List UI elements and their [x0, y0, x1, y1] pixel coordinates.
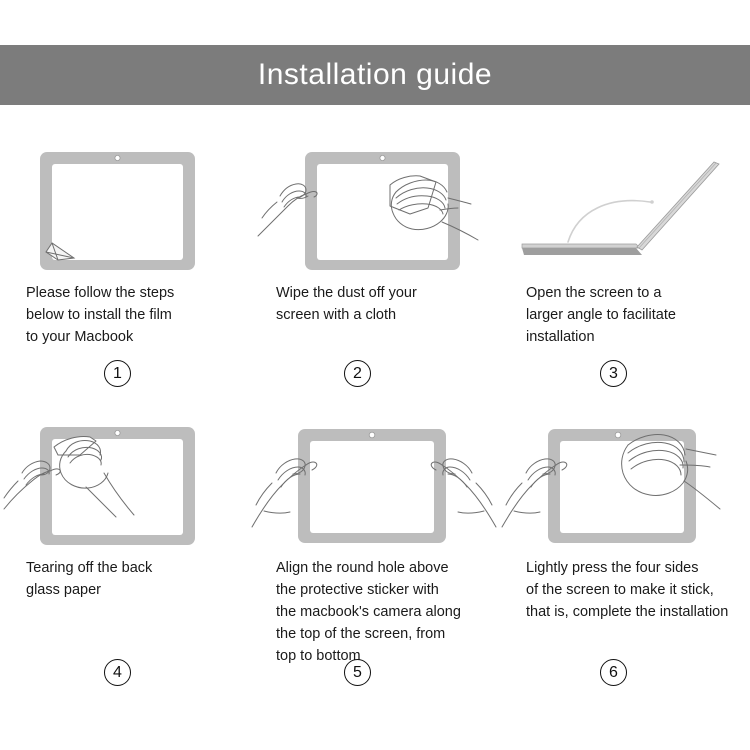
step-6: Lightly press the four sides of the scre…	[500, 415, 750, 690]
header-band: Installation guide	[0, 45, 750, 105]
step-1: Please follow the steps below to install…	[0, 140, 250, 415]
step-3-illustration	[500, 140, 750, 270]
step-5-illustration	[250, 415, 500, 545]
step-4-caption: Tearing off the back glass paper	[26, 557, 241, 601]
step-1-illustration	[0, 140, 250, 270]
step-3: Open the screen to a larger angle to fac…	[500, 140, 750, 415]
step-1-caption: Please follow the steps below to install…	[26, 282, 241, 348]
steps-grid: Please follow the steps below to install…	[0, 140, 750, 690]
installation-guide-page: Installation guide Please	[0, 0, 750, 750]
step-2-caption: Wipe the dust off your screen with a clo…	[276, 282, 491, 326]
step-4-illustration	[0, 415, 250, 545]
step-3-caption: Open the screen to a larger angle to fac…	[526, 282, 741, 348]
step-5-caption: Align the round hole above the protectiv…	[276, 557, 491, 667]
step-5: Align the round hole above the protectiv…	[250, 415, 500, 690]
step-4-number-badge: 4	[104, 659, 131, 686]
step-2-number-badge: 2	[344, 360, 371, 387]
step-5-number-badge: 5	[344, 659, 371, 686]
step-6-illustration	[500, 415, 750, 545]
page-title: Installation guide	[258, 60, 492, 90]
step-3-number-badge: 3	[600, 360, 627, 387]
step-1-number-badge: 1	[104, 360, 131, 387]
step-2: Wipe the dust off your screen with a clo…	[250, 140, 500, 415]
step-4: Tearing off the back glass paper 4	[0, 415, 250, 690]
step-6-number-badge: 6	[600, 659, 627, 686]
step-6-caption: Lightly press the four sides of the scre…	[526, 557, 741, 623]
step-2-illustration	[250, 140, 500, 270]
